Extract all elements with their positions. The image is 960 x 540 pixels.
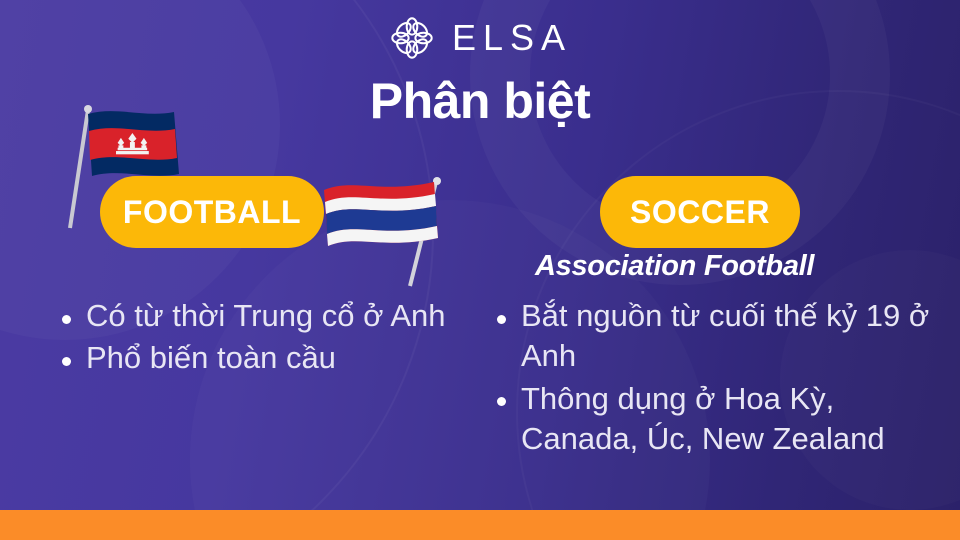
list-item: Bắt nguồn từ cuối thế kỷ 19 ở Anh [485, 296, 945, 377]
list-item: Thông dụng ở Hoa Kỳ, Canada, Úc, New Zea… [485, 379, 945, 460]
list-item: Phổ biến toàn cầu [50, 338, 450, 378]
soccer-bullet-list: Bắt nguồn từ cuối thế kỷ 19 ở Anh Thông … [485, 296, 945, 461]
badge-football[interactable]: FOOTBALL [100, 176, 324, 248]
flag-thailand-icon [318, 168, 444, 290]
badge-football-label: FOOTBALL [123, 194, 301, 231]
slide-canvas: ELSA Phân biệt [0, 0, 960, 540]
list-item: Có từ thời Trung cổ ở Anh [50, 296, 450, 336]
soccer-subcaption: Association Football [480, 250, 960, 283]
football-bullet-list: Có từ thời Trung cổ ở Anh Phổ biến toàn … [50, 296, 450, 381]
badge-soccer[interactable]: SOCCER [600, 176, 800, 248]
badge-soccer-label: SOCCER [630, 194, 770, 231]
column-football: FOOTBALL [0, 0, 480, 540]
bottom-accent-bar [0, 510, 960, 540]
